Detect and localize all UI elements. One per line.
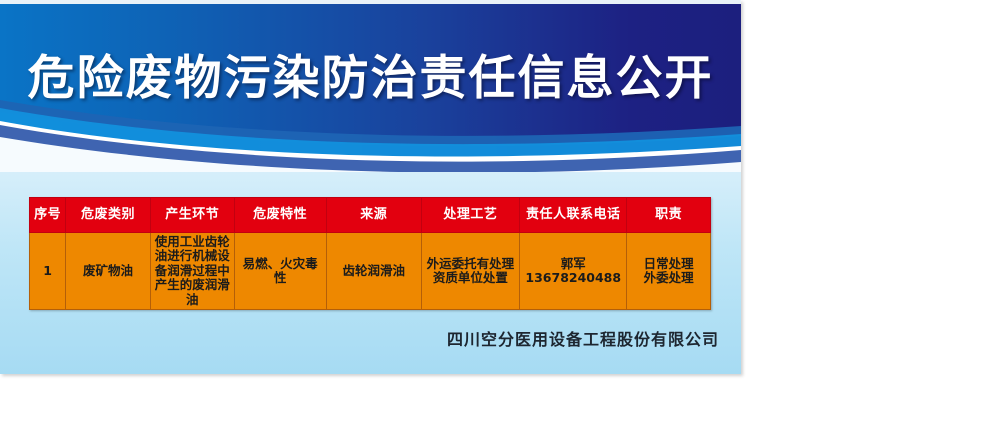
duty-line-2: 外委处理 bbox=[629, 271, 708, 286]
hazardous-waste-table-container: 序号 危废类别 产生环节 危废特性 来源 处理工艺 责任人联系电话 职责 1 废… bbox=[29, 197, 711, 310]
poster-board: 危险废物污染防治责任信息公开 序号 危废类别 产生环节 危废特性 来源 处理工艺… bbox=[0, 0, 741, 374]
page-title: 危险废物污染防治责任信息公开 bbox=[0, 50, 741, 108]
col-header-contact: 责任人联系电话 bbox=[520, 198, 627, 233]
cell-source: 齿轮润滑油 bbox=[326, 233, 421, 310]
duty-line-1: 日常处理 bbox=[629, 257, 708, 272]
cell-duty: 日常处理 外委处理 bbox=[627, 233, 711, 310]
contact-name: 郭军 bbox=[522, 257, 624, 272]
table-row: 1 废矿物油 使用工业齿轮油进行机械设备润滑过程中产生的废润滑油 易燃、火灾毒性… bbox=[30, 233, 711, 310]
cell-stage: 使用工业齿轮油进行机械设备润滑过程中产生的废润滑油 bbox=[150, 233, 234, 310]
col-header-process: 处理工艺 bbox=[421, 198, 520, 233]
col-header-source: 来源 bbox=[326, 198, 421, 233]
cell-process: 外运委托有处理资质单位处置 bbox=[421, 233, 520, 310]
cell-index: 1 bbox=[30, 233, 66, 310]
cell-characteristic: 易燃、火灾毒性 bbox=[234, 233, 326, 310]
hazardous-waste-table: 序号 危废类别 产生环节 危废特性 来源 处理工艺 责任人联系电话 职责 1 废… bbox=[29, 197, 711, 310]
table-header-row: 序号 危废类别 产生环节 危废特性 来源 处理工艺 责任人联系电话 职责 bbox=[30, 198, 711, 233]
cell-category: 废矿物油 bbox=[66, 233, 151, 310]
col-header-category: 危废类别 bbox=[66, 198, 151, 233]
col-header-characteristic: 危废特性 bbox=[234, 198, 326, 233]
company-name: 四川空分医用设备工程股份有限公司 bbox=[0, 326, 719, 350]
col-header-index: 序号 bbox=[30, 198, 66, 233]
contact-phone: 13678240488 bbox=[522, 271, 624, 286]
cell-contact: 郭军 13678240488 bbox=[520, 233, 627, 310]
col-header-duty: 职责 bbox=[627, 198, 711, 233]
col-header-stage: 产生环节 bbox=[150, 198, 234, 233]
